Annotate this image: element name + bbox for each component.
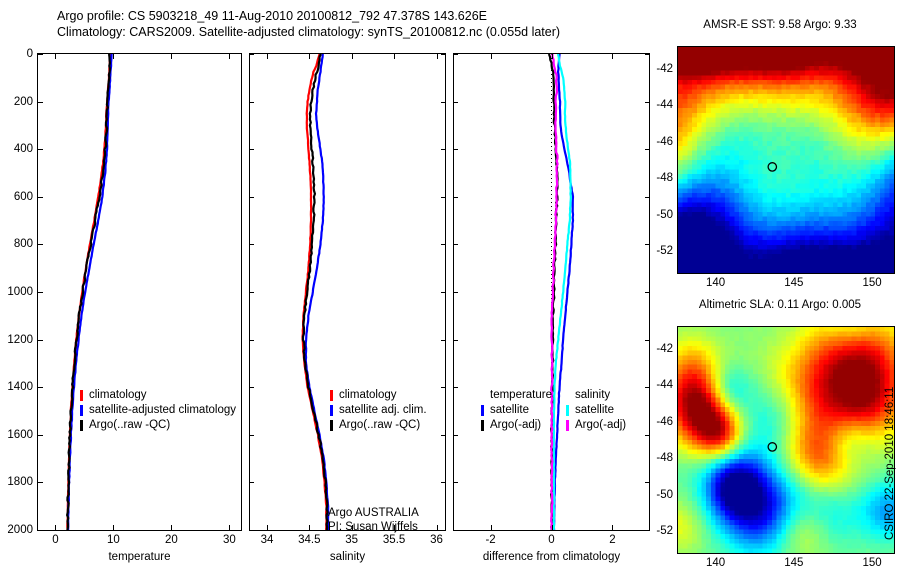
title-line-2: Climatology: CARS2009. Satellite-adjuste… <box>57 24 677 40</box>
y-tick-mark <box>249 244 254 245</box>
y-tick-mark <box>37 54 43 55</box>
x-tick-mark <box>267 525 268 531</box>
legend-label: Argo(-adj) <box>490 418 541 433</box>
x-axis-label-difference: difference from climatology <box>453 551 650 563</box>
map-y-tick-label: -44 <box>635 99 673 111</box>
y-tick-label: 2000 <box>0 524 33 536</box>
y-tick-mark <box>249 530 254 531</box>
x-tick-mark <box>552 53 553 59</box>
difference-plot <box>454 54 649 530</box>
x-tick-mark <box>491 53 492 59</box>
title-line-1: Argo profile: CS 5903218_49 11-Aug-2010 … <box>57 8 677 24</box>
x-tick-mark <box>267 53 268 59</box>
salinity-panel[interactable] <box>249 53 446 531</box>
x-tick-mark <box>113 53 114 59</box>
y-tick-mark <box>441 102 446 103</box>
y-tick-label: 800 <box>0 238 33 250</box>
map-x-tick-label: 140 <box>706 557 725 569</box>
x-tick-label: 2 <box>609 534 615 546</box>
sst-heatmap <box>678 47 894 273</box>
y-tick-mark <box>645 435 650 436</box>
map-y-tick-label: -50 <box>635 209 673 221</box>
y-tick-label: 1600 <box>0 429 33 441</box>
y-tick-label: 1800 <box>0 476 33 488</box>
temperature-panel[interactable] <box>37 53 242 531</box>
y-tick-mark <box>37 340 43 341</box>
map-y-tick-label: -48 <box>635 452 673 464</box>
x-tick-mark <box>437 525 438 531</box>
temperature-legend: climatology satellite-adjusted climatolo… <box>80 388 236 433</box>
sst-map-title: AMSR-E SST: 9.58 Argo: 9.33 <box>660 19 900 31</box>
x-tick-mark <box>394 53 395 59</box>
y-tick-mark <box>441 292 446 293</box>
y-tick-mark <box>37 482 43 483</box>
program-name: Argo AUSTRALIA <box>328 506 419 520</box>
x-tick-label: 10 <box>107 534 120 546</box>
y-tick-mark <box>453 149 458 150</box>
legend-item: Argo(..raw -QC) <box>330 418 427 433</box>
x-tick-label: 30 <box>223 534 236 546</box>
legend-item: climatology <box>80 388 236 403</box>
legend-label: Argo(-adj) <box>575 418 626 433</box>
color-swatch-argo <box>80 420 83 431</box>
legend-title-temperature: temperature <box>490 388 552 403</box>
y-tick-label: 1200 <box>0 334 33 346</box>
y-tick-label: 0 <box>0 48 33 60</box>
x-tick-label: -2 <box>485 534 495 546</box>
legend-item: satellite-adjusted climatology <box>80 403 236 418</box>
y-tick-mark <box>453 102 458 103</box>
x-tick-mark <box>437 53 438 59</box>
y-tick-mark <box>453 482 458 483</box>
legend-item: climatology <box>330 388 427 403</box>
x-tick-label: 36 <box>430 534 443 546</box>
y-tick-label: 600 <box>0 191 33 203</box>
y-tick-mark <box>37 244 43 245</box>
x-axis-label-temperature: temperature <box>37 551 242 563</box>
y-tick-mark <box>453 292 458 293</box>
legend-item: Argo(-adj) <box>566 418 626 433</box>
y-tick-mark <box>441 482 446 483</box>
map-x-tick-label: 150 <box>863 557 882 569</box>
x-tick-mark <box>113 525 114 531</box>
y-tick-mark <box>37 197 43 198</box>
map-y-tick-label: -42 <box>635 343 673 355</box>
x-tick-mark <box>309 53 310 59</box>
legend-item: satellite <box>481 403 552 418</box>
sla-map-title: Altimetric SLA: 0.11 Argo: 0.005 <box>660 299 900 311</box>
y-tick-mark <box>37 102 43 103</box>
y-tick-label: 1400 <box>0 381 33 393</box>
legend-item: satellite <box>566 403 626 418</box>
y-tick-mark <box>37 292 43 293</box>
y-tick-mark <box>645 54 650 55</box>
y-tick-mark <box>37 435 43 436</box>
legend-label: Argo(..raw -QC) <box>89 418 170 433</box>
legend-label: climatology <box>339 388 397 403</box>
y-tick-mark <box>441 530 446 531</box>
y-tick-mark <box>37 530 43 531</box>
salinity-legend: climatology satellite adj. clim. Argo(..… <box>330 388 427 433</box>
x-tick-mark <box>229 525 230 531</box>
y-tick-mark <box>453 435 458 436</box>
map-y-tick-label: -48 <box>635 172 673 184</box>
x-tick-mark <box>612 525 613 531</box>
sla-map-panel[interactable] <box>677 326 895 554</box>
principal-investigator: PI: Susan Wijffels <box>328 520 419 534</box>
map-x-tick-label: 150 <box>863 277 882 289</box>
y-tick-mark <box>453 197 458 198</box>
color-swatch-temp-argo <box>481 420 484 431</box>
y-tick-mark <box>37 149 43 150</box>
y-tick-mark <box>249 197 254 198</box>
sla-heatmap <box>678 327 894 553</box>
y-tick-mark <box>441 54 446 55</box>
figure-title: Argo profile: CS 5903218_49 11-Aug-2010 … <box>57 8 677 40</box>
x-tick-label: 0 <box>52 534 58 546</box>
legend-label: satellite <box>575 403 614 418</box>
y-tick-mark <box>249 435 254 436</box>
color-swatch-sal-argo <box>566 420 569 431</box>
x-tick-mark <box>394 525 395 531</box>
x-tick-label: 34 <box>261 534 274 546</box>
legend-group-title: temperature <box>481 388 552 403</box>
y-tick-mark <box>441 244 446 245</box>
difference-panel[interactable] <box>453 53 650 531</box>
sst-map-panel[interactable] <box>677 46 895 274</box>
map-y-tick-label: -46 <box>635 136 673 148</box>
legend-label: satellite <box>490 403 529 418</box>
legend-title-salinity: salinity <box>575 388 610 403</box>
y-tick-mark <box>453 244 458 245</box>
color-swatch-satellite <box>80 405 83 416</box>
x-tick-mark <box>55 53 56 59</box>
y-tick-mark <box>453 387 458 388</box>
legend-item: Argo(-adj) <box>481 418 552 433</box>
color-swatch-argo <box>330 420 333 431</box>
x-tick-mark <box>55 525 56 531</box>
y-tick-mark <box>37 387 43 388</box>
y-tick-mark <box>645 149 650 150</box>
y-tick-label: 400 <box>0 143 33 155</box>
csiro-credit: CSIRO 22-Sep-2010 18:46:11 <box>884 387 896 540</box>
x-tick-mark <box>229 53 230 59</box>
y-tick-mark <box>441 387 446 388</box>
x-tick-mark <box>352 53 353 59</box>
y-tick-mark <box>249 340 254 341</box>
legend-label: satellite adj. clim. <box>339 403 427 418</box>
x-tick-mark <box>491 525 492 531</box>
x-tick-label: 34.5 <box>298 534 320 546</box>
y-tick-mark <box>441 149 446 150</box>
x-tick-mark <box>352 525 353 531</box>
salinity-plot <box>250 54 445 530</box>
x-tick-label: 0 <box>548 534 554 546</box>
x-tick-mark <box>552 525 553 531</box>
y-tick-mark <box>249 482 254 483</box>
map-x-tick-label: 145 <box>784 277 803 289</box>
x-tick-mark <box>171 53 172 59</box>
y-tick-mark <box>249 149 254 150</box>
color-swatch-temp-satellite <box>481 405 484 416</box>
map-y-tick-label: -50 <box>635 489 673 501</box>
y-tick-mark <box>249 387 254 388</box>
y-tick-mark <box>249 292 254 293</box>
y-tick-mark <box>249 102 254 103</box>
y-tick-label: 200 <box>0 96 33 108</box>
x-tick-label: 35.5 <box>383 534 405 546</box>
difference-legend-salinity: salinity satellite Argo(-adj) <box>566 388 626 433</box>
y-tick-mark <box>441 435 446 436</box>
legend-label: Argo(..raw -QC) <box>339 418 420 433</box>
legend-item: satellite adj. clim. <box>330 403 427 418</box>
x-tick-mark <box>612 53 613 59</box>
temperature-plot <box>38 54 241 530</box>
x-axis-label-salinity: salinity <box>249 551 446 563</box>
color-swatch-climatology <box>330 390 333 401</box>
y-tick-mark <box>441 197 446 198</box>
y-tick-mark <box>645 197 650 198</box>
y-tick-mark <box>645 292 650 293</box>
x-tick-mark <box>171 525 172 531</box>
x-tick-label: 35 <box>345 534 358 546</box>
y-tick-label: 1000 <box>0 286 33 298</box>
y-tick-mark <box>453 340 458 341</box>
y-tick-mark <box>453 530 458 531</box>
color-swatch-climatology <box>80 390 83 401</box>
legend-group-title: salinity <box>566 388 626 403</box>
map-y-tick-label: -46 <box>635 416 673 428</box>
legend-label: satellite-adjusted climatology <box>89 403 236 418</box>
x-tick-label: 20 <box>165 534 178 546</box>
map-x-tick-label: 140 <box>706 277 725 289</box>
map-y-tick-label: -42 <box>635 63 673 75</box>
x-tick-mark <box>309 525 310 531</box>
y-tick-mark <box>645 340 650 341</box>
map-x-tick-label: 145 <box>784 557 803 569</box>
color-swatch-satellite <box>330 405 333 416</box>
y-tick-mark <box>249 54 254 55</box>
legend-label: climatology <box>89 388 147 403</box>
difference-legend-temperature: temperature satellite Argo(-adj) <box>481 388 552 433</box>
color-swatch-sal-satellite <box>566 405 569 416</box>
y-tick-mark <box>441 340 446 341</box>
map-y-tick-label: -44 <box>635 379 673 391</box>
map-y-tick-label: -52 <box>635 525 673 537</box>
legend-item: Argo(..raw -QC) <box>80 418 236 433</box>
map-y-tick-label: -52 <box>635 245 673 257</box>
y-tick-mark <box>453 54 458 55</box>
program-footer: Argo AUSTRALIA PI: Susan Wijffels <box>328 506 419 534</box>
y-tick-mark <box>645 482 650 483</box>
